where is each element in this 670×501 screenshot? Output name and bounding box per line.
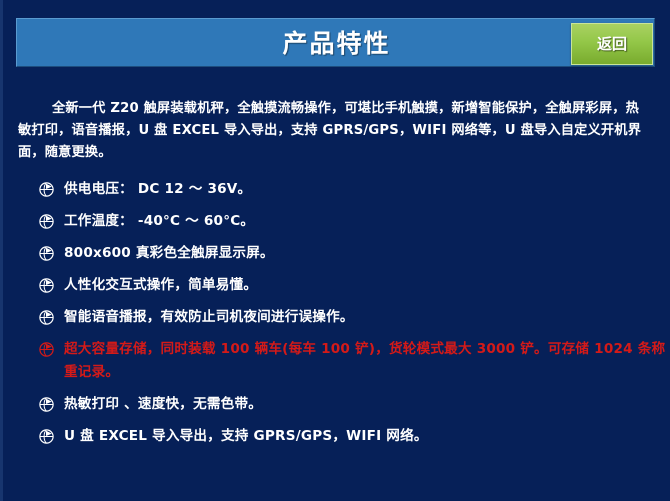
feature-item-label: 超大容量存储，同时装载 100 辆车(每车 100 铲)，货轮模式最大 3000…: [64, 341, 665, 380]
feature-item: 超大容量存储，同时装载 100 辆车(每车 100 铲)，货轮模式最大 3000…: [38, 338, 670, 384]
globe-arrow-icon: [38, 181, 55, 198]
globe-arrow-icon: [38, 341, 55, 358]
feature-item-label: 供电电压： DC 12 ～ 36V。: [64, 181, 251, 197]
feature-item: U 盘 EXCEL 导入导出，支持 GPRS/GPS，WIFI 网络。: [38, 425, 670, 448]
globe-arrow-icon: [38, 213, 55, 230]
feature-item-label: 热敏打印 、速度快，无需色带。: [64, 396, 262, 412]
feature-item-label: 800x600 真彩色全触屏显示屏。: [64, 245, 274, 261]
feature-item: 智能语音播报，有效防止司机夜间进行误操作。: [38, 306, 670, 329]
header-bar: 产品特性 返回: [16, 18, 655, 67]
feature-item-label: 人性化交互式操作，简单易懂。: [64, 277, 257, 293]
content-area: 全新一代 Z20 触屏装载机秤，全触摸流畅操作，可堪比手机触摸，新增智能保护，全…: [0, 98, 670, 448]
feature-item: 工作温度： -40°C ～ 60°C。: [38, 210, 670, 233]
feature-list: 供电电压： DC 12 ～ 36V。工作温度： -40°C ～ 60°C。800…: [0, 178, 670, 448]
globe-arrow-icon: [38, 245, 55, 262]
back-button-label: 返回: [572, 24, 652, 64]
feature-item: 供电电压： DC 12 ～ 36V。: [38, 178, 670, 201]
back-button[interactable]: 返回: [571, 23, 653, 65]
page-title: 产品特性: [17, 19, 656, 68]
feature-item: 人性化交互式操作，简单易懂。: [38, 274, 670, 297]
feature-item-label: 工作温度： -40°C ～ 60°C。: [64, 213, 254, 229]
globe-arrow-icon: [38, 428, 55, 445]
globe-arrow-icon: [38, 396, 55, 413]
feature-item-label: 智能语音播报，有效防止司机夜间进行误操作。: [64, 309, 354, 325]
feature-item: 热敏打印 、速度快，无需色带。: [38, 393, 670, 416]
globe-arrow-icon: [38, 309, 55, 326]
intro-paragraph: 全新一代 Z20 触屏装载机秤，全触摸流畅操作，可堪比手机触摸，新增智能保护，全…: [18, 98, 652, 164]
product-features-screen: 产品特性 返回 全新一代 Z20 触屏装载机秤，全触摸流畅操作，可堪比手机触摸，…: [0, 0, 670, 501]
feature-item-label: U 盘 EXCEL 导入导出，支持 GPRS/GPS，WIFI 网络。: [64, 428, 428, 444]
globe-arrow-icon: [38, 277, 55, 294]
feature-item: 800x600 真彩色全触屏显示屏。: [38, 242, 670, 265]
